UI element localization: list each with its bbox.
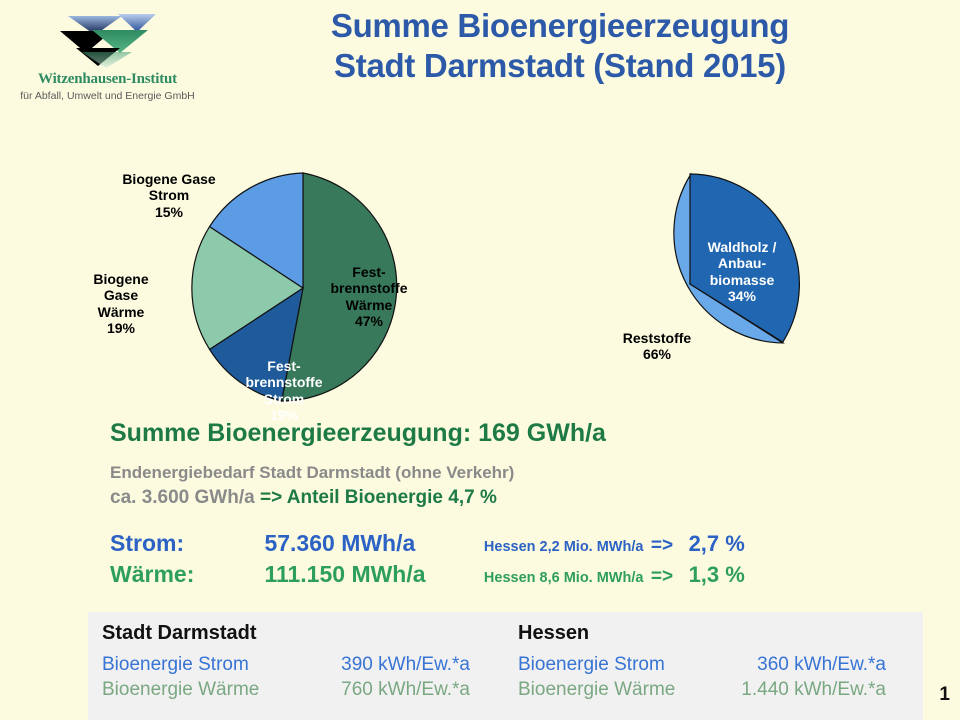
table-cell-value: 760 kWh/Ew.*a: [290, 677, 470, 702]
table-cell-name: Bioenergie Wärme: [102, 677, 290, 702]
pie-label-biogene-gase-waerme: Biogene Gase Wärme 19%: [78, 254, 164, 337]
table-row: Bioenergie Wärme1.440 kWh/Ew.*a: [518, 677, 886, 702]
pie-label-biogene-gase-waerme-text: Biogene Gase Wärme: [93, 271, 148, 320]
table-column-stadt-darmstadt: Stadt Darmstadt Bioenergie Strom390 kWh/…: [102, 622, 470, 703]
table-cell-name: Bioenergie Strom: [102, 652, 290, 677]
metric-row-strom-arrow: =>: [648, 535, 677, 557]
comparison-table: Stadt Darmstadt Bioenergie Strom390 kWh/…: [88, 612, 923, 720]
summary-demand-value: ca. 3.600 GWh/a: [110, 487, 255, 508]
pie-label-reststoffe-value: 66%: [643, 346, 671, 362]
table-cell-value: 390 kWh/Ew.*a: [290, 652, 470, 677]
table-row: Bioenergie Strom360 kWh/Ew.*a: [518, 652, 886, 677]
pie-label-festbrennstoffe-waerme-text: Fest- brennstoffe Wärme: [331, 264, 408, 313]
table-cell-value: 360 kWh/Ew.*a: [706, 652, 886, 677]
metric-row-strom: Strom: 57.360 MWh/a Hessen 2,2 Mio. MWh/…: [110, 530, 745, 557]
pie-label-festbrennstoffe-strom-text: Fest- brennstoffe Strom: [246, 358, 323, 407]
pie-label-waldholz-text: Waldholz / Anbau- biomasse: [708, 239, 777, 288]
metric-row-waerme-percent: 1,3 %: [682, 562, 745, 588]
logo-subtitle: für Abfall, Umwelt und Energie GmbH: [20, 90, 195, 102]
table-cell-name: Bioenergie Strom: [518, 652, 706, 677]
page-number: 1: [939, 684, 950, 706]
logo-name: Witzenhausen-Institut: [20, 71, 195, 88]
table-cell-name: Bioenergie Wärme: [518, 677, 706, 702]
logo: Witzenhausen-Institut für Abfall, Umwelt…: [20, 8, 195, 118]
table-header-stadt-darmstadt: Stadt Darmstadt: [102, 622, 470, 645]
metric-row-waerme: Wärme: 111.150 MWh/a Hessen 8,6 Mio. MWh…: [110, 561, 745, 588]
summary-demand-arrow: =>: [260, 487, 282, 508]
summary-total: Summe Bioenergieerzeugung: 169 GWh/a: [110, 419, 606, 448]
pie-label-festbrennstoffe-waerme-value: 47%: [355, 313, 383, 329]
pie-label-festbrennstoffe-strom: Fest- brennstoffe Strom 19%: [240, 341, 328, 424]
table-column-hessen: Hessen Bioenergie Strom360 kWh/Ew.*a Bio…: [518, 622, 886, 703]
metric-row-waerme-label: Wärme:: [110, 561, 260, 588]
summary-demand-label: Endenergiebedarf Stadt Darmstadt (ohne V…: [110, 463, 514, 483]
pie-label-waldholz-value: 34%: [728, 288, 756, 304]
metric-row-waerme-hessen: Hessen 8,6 Mio. MWh/a: [484, 570, 644, 586]
pie-label-waldholz-anbaubiomasse: Waldholz / Anbau- biomasse 34%: [692, 222, 792, 305]
table-row: Bioenergie Wärme760 kWh/Ew.*a: [102, 677, 470, 702]
title-line-2: Stadt Darmstadt (Stand 2015): [210, 46, 910, 86]
metric-row-strom-percent: 2,7 %: [682, 531, 745, 557]
slide-canvas: Witzenhausen-Institut für Abfall, Umwelt…: [0, 0, 960, 720]
pie-label-biogene-gase-strom-value: 15%: [155, 204, 183, 220]
table-cell-value: 1.440 kWh/Ew.*a: [706, 677, 886, 702]
title-line-1: Summe Bioenergieerzeugung: [331, 7, 789, 44]
summary-demand-line: ca. 3.600 GWh/a => Anteil Bioenergie 4,7…: [110, 487, 497, 509]
pie-label-reststoffe: Reststoffe 66%: [604, 313, 710, 363]
pie-label-biogene-gase-waerme-value: 19%: [107, 320, 135, 336]
pie-label-festbrennstoffe-waerme: Fest- brennstoffe Wärme 47%: [322, 247, 416, 330]
table-header-hessen: Hessen: [518, 622, 886, 645]
pie-label-biogene-gase-strom-text: Biogene Gase Strom: [122, 171, 215, 204]
metric-row-strom-hessen: Hessen 2,2 Mio. MWh/a: [484, 539, 644, 555]
summary-demand-share: Anteil Bioenergie 4,7 %: [287, 487, 497, 508]
page-title: Summe Bioenergieerzeugung Stadt Darmstad…: [210, 6, 910, 87]
witzenhausen-triangles-logo-icon: [20, 8, 195, 70]
metric-row-strom-value: 57.360 MWh/a: [264, 530, 479, 557]
table-row: Bioenergie Strom390 kWh/Ew.*a: [102, 652, 470, 677]
metric-row-waerme-arrow: =>: [648, 566, 677, 588]
pie-label-biogene-gase-strom: Biogene Gase Strom 15%: [104, 154, 234, 220]
metric-row-waerme-value: 111.150 MWh/a: [264, 561, 479, 588]
pie-label-reststoffe-text: Reststoffe: [623, 330, 691, 346]
metric-row-strom-label: Strom:: [110, 530, 260, 557]
